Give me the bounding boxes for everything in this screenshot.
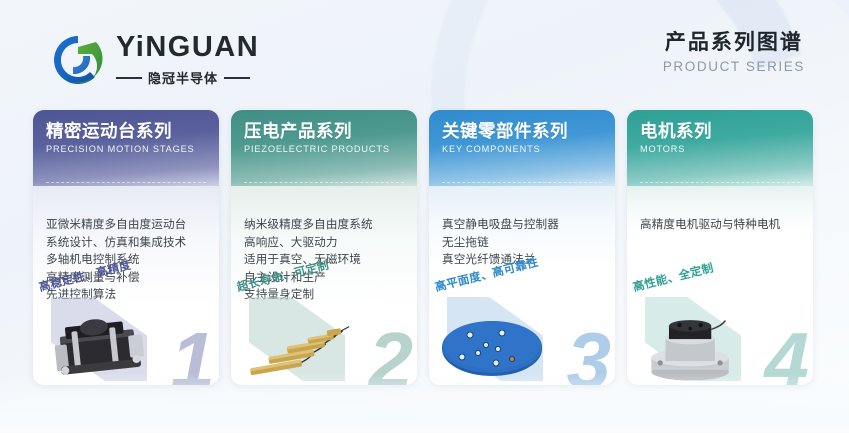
card-footer-visual: 3 高平面度、高可靠性 xyxy=(429,277,615,385)
electrostatic-chuck-photo-icon xyxy=(433,309,557,381)
card-header: 电机系列 MOTORS xyxy=(627,110,813,186)
product-card-key-components[interactable]: 关键零部件系列 KEY COMPONENTS 真空静电吸盘与控制器 无尘拖链 真… xyxy=(429,110,615,385)
page-title: 产品系列图谱 PRODUCT SERIES xyxy=(663,31,805,74)
product-series-poster: YiNGUAN 隐冠半导体 产品系列图谱 PRODUCT SERIES 精密运动… xyxy=(0,0,849,433)
poster-header: YiNGUAN 隐冠半导体 产品系列图谱 PRODUCT SERIES xyxy=(0,0,849,100)
list-item: 系统设计、仿真和集成技术 xyxy=(46,234,209,252)
product-series-card-row: 精密运动台系列 PRECISION MOTION STAGES 亚微米精度多自由… xyxy=(33,110,816,385)
card-title-cn: 压电产品系列 xyxy=(244,121,417,141)
card-footer-visual: 2 xyxy=(231,277,417,385)
card-tagline: 高性能、全定制 xyxy=(631,259,715,295)
page-title-en: PRODUCT SERIES xyxy=(663,59,805,74)
card-divider xyxy=(640,182,800,184)
card-title-cn: 关键零部件系列 xyxy=(442,121,615,141)
card-divider xyxy=(46,182,206,184)
card-header: 关键零部件系列 KEY COMPONENTS xyxy=(429,110,615,186)
product-card-motors[interactable]: 电机系列 MOTORS 高精度电机驱动与特种电机 4 xyxy=(627,110,813,385)
list-item: 亚微米精度多自由度运动台 xyxy=(46,216,209,234)
card-footer-visual: 4 高性能、全定制 xyxy=(627,277,813,385)
list-item: 纳米级精度多自由度系统 xyxy=(244,216,407,234)
brand-logo: YiNGUAN 隐冠半导体 xyxy=(50,32,259,88)
brand-wordmark: YiNGUAN xyxy=(116,31,259,63)
product-card-precision-motion-stages[interactable]: 精密运动台系列 PRECISION MOTION STAGES 亚微米精度多自由… xyxy=(33,110,219,385)
card-title-cn: 精密运动台系列 xyxy=(46,121,219,141)
card-divider xyxy=(442,182,602,184)
card-footer-visual: 1 高稳定性、高精 xyxy=(33,277,219,385)
card-title-cn: 电机系列 xyxy=(640,121,813,141)
card-title-en: KEY COMPONENTS xyxy=(442,144,615,154)
yinguan-circle-logo-icon xyxy=(50,32,106,88)
logo-rule-right xyxy=(224,77,250,79)
logo-rule-left xyxy=(116,77,142,79)
card-body: 高精度电机驱动与特种电机 xyxy=(627,186,813,234)
brand-wordmark-block: YiNGUAN 隐冠半导体 xyxy=(116,33,259,87)
list-item: 高响应、大驱动力 xyxy=(244,234,407,252)
brand-chinese-name: 隐冠半导体 xyxy=(148,68,218,87)
page-title-cn: 产品系列图谱 xyxy=(663,31,805,55)
list-item: 高精度电机驱动与特种电机 xyxy=(640,216,803,234)
card-title-en: MOTORS xyxy=(640,144,813,154)
card-header: 精密运动台系列 PRECISION MOTION STAGES xyxy=(33,110,219,186)
card-header: 压电产品系列 PIEZOELECTRIC PRODUCTS xyxy=(231,110,417,186)
card-divider xyxy=(244,182,404,184)
list-item: 无尘拖链 xyxy=(442,234,605,252)
brand-subtitle-row: 隐冠半导体 xyxy=(116,68,259,87)
list-item: 真空静电吸盘与控制器 xyxy=(442,216,605,234)
card-title-en: PIEZOELECTRIC PRODUCTS xyxy=(244,144,417,154)
card-title-en: PRECISION MOTION STAGES xyxy=(46,144,219,154)
product-card-piezoelectric-products[interactable]: 压电产品系列 PIEZOELECTRIC PRODUCTS 纳米级精度多自由度系… xyxy=(231,110,417,385)
feature-list: 高精度电机驱动与特种电机 xyxy=(640,216,803,234)
bottom-fade-overlay xyxy=(0,373,849,433)
